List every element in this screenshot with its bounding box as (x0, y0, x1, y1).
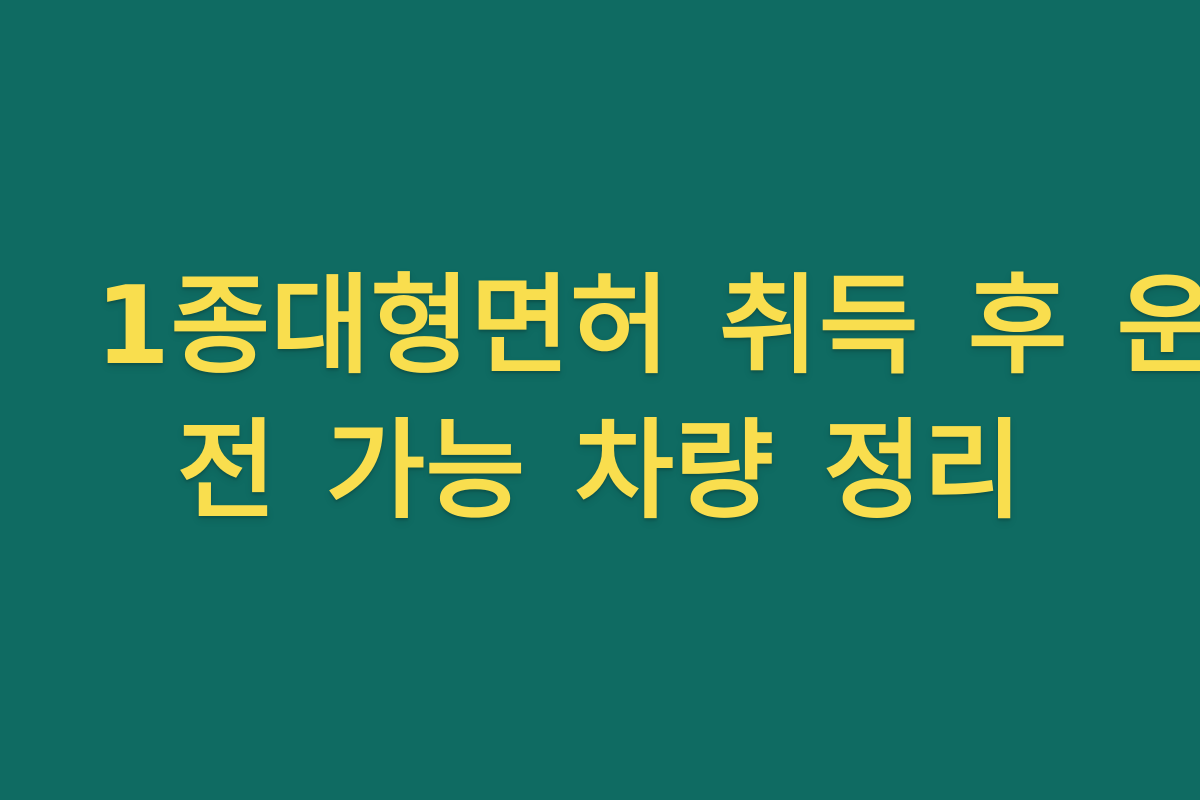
headline-line-1: 1종대형면허 취득 후 운 (95, 257, 1105, 397)
text-banner: 1종대형면허 취득 후 운 전 가능 차량 정리 (0, 0, 1200, 800)
headline-line-2: 전 가능 차량 정리 (95, 402, 1105, 542)
page-title: 1종대형면허 취득 후 운 전 가능 차량 정리 (95, 257, 1105, 542)
